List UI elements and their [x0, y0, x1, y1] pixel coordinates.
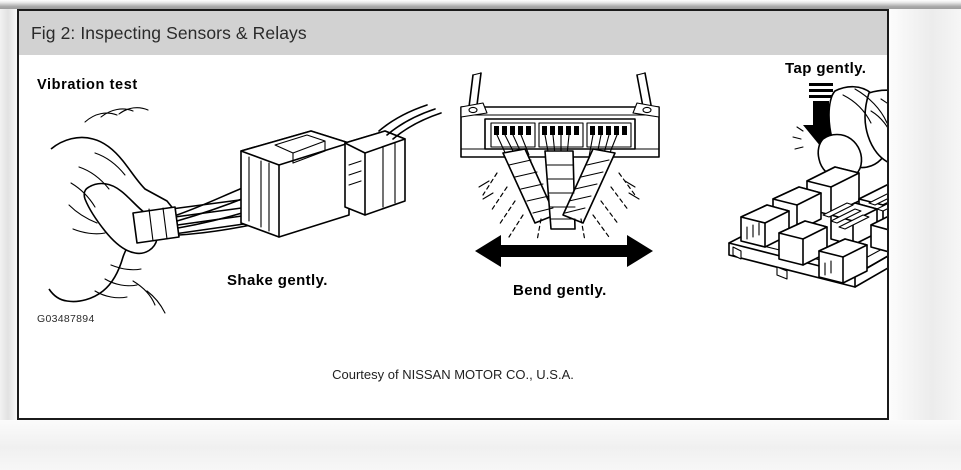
- illustration-shake-connector: Shake gently.: [49, 95, 389, 315]
- illustration-bend-harness: Bend gently.: [449, 69, 679, 319]
- caption-bend-gently: Bend gently.: [513, 282, 607, 299]
- caption-shake-gently: Shake gently.: [227, 272, 328, 289]
- panel-heading-vibration-test: Vibration test: [37, 77, 138, 93]
- top-chrome-strip: [0, 0, 961, 9]
- caption-tap-gently: Tap gently.: [785, 60, 866, 77]
- scrollbar-track[interactable]: [950, 9, 961, 470]
- page-root: Fig 2: Inspecting Sensors & Relays Vibra…: [0, 0, 961, 470]
- figure-title: Fig 2: Inspecting Sensors & Relays: [31, 23, 307, 44]
- tap-relay-drawing: Tap gently.: [719, 55, 889, 305]
- shake-connector-drawing: Shake gently.: [49, 95, 389, 315]
- bend-harness-drawing: Bend gently.: [449, 69, 679, 319]
- courtesy-label: Courtesy of NISSAN MOTOR CO., U.S.A.: [19, 367, 887, 382]
- page-shadow-left: [0, 0, 18, 470]
- figure-container: Fig 2: Inspecting Sensors & Relays Vibra…: [17, 9, 889, 420]
- illustration-tap-relay-box: Tap gently.: [719, 55, 889, 305]
- figure-header-bar: Fig 2: Inspecting Sensors & Relays: [19, 11, 887, 55]
- figure-body: Vibration test G03487894 Courtesy of NIS…: [19, 55, 887, 418]
- arrow-bend-double: [475, 235, 653, 267]
- page-shadow-bottom: [0, 420, 961, 470]
